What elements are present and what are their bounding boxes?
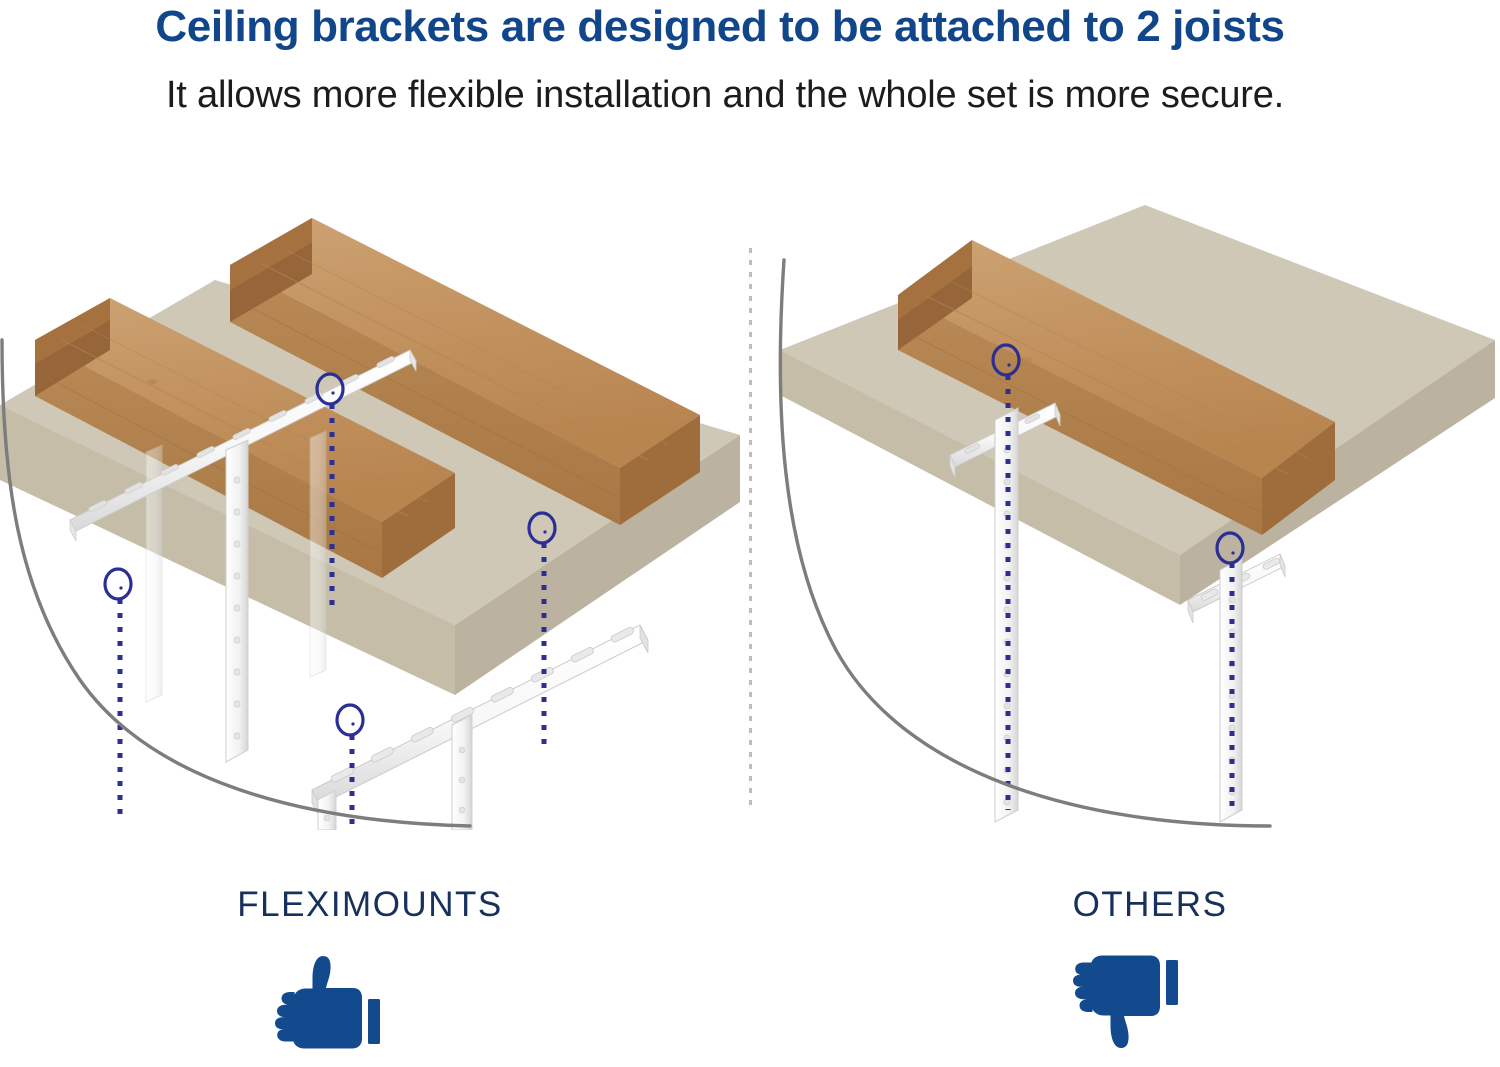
thumbs-down-icon bbox=[1068, 952, 1180, 1057]
others-illustration bbox=[750, 150, 1500, 830]
bracket-post bbox=[226, 440, 248, 762]
fleximounts-caption: FLEXIMOUNTS bbox=[80, 885, 660, 925]
fleximounts-diagram-svg bbox=[0, 150, 750, 830]
thumbs-down-glyph bbox=[1068, 952, 1180, 1052]
others-caption: OTHERS bbox=[870, 885, 1430, 925]
others-diagram-svg bbox=[750, 150, 1500, 830]
panel-divider bbox=[749, 248, 752, 806]
page-title: Ceiling brackets are designed to be atta… bbox=[0, 2, 1440, 52]
illustration-stage bbox=[0, 150, 1500, 830]
attachment-marker bbox=[105, 569, 131, 815]
thumbs-up-glyph bbox=[272, 952, 380, 1052]
thumbs-up-icon bbox=[272, 952, 380, 1057]
bracket-right bbox=[1188, 554, 1285, 822]
page-subtitle: It allows more flexible installation and… bbox=[0, 74, 1450, 117]
fleximounts-illustration bbox=[0, 150, 750, 830]
